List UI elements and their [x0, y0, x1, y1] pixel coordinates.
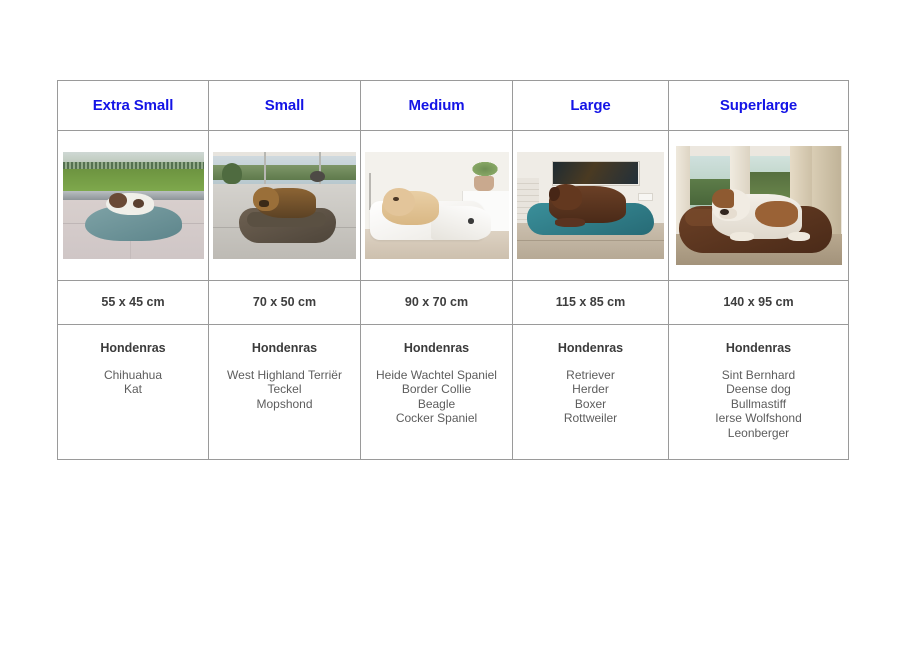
breeds-title: Hondenras [513, 342, 668, 355]
breeds-list: Sint BernhardDeense dogBullmastiffIerse … [669, 368, 848, 441]
image-cell-small [209, 131, 361, 281]
product-photo-small-dog-on-teal-cushion-bed [63, 152, 204, 259]
size-header-label: Small [209, 98, 360, 113]
product-photo-chocolate-labrador-on-teal-cushion-bed [517, 152, 664, 259]
dimension-label: 115 x 85 cm [513, 296, 668, 309]
breed-item: Teckel [209, 382, 360, 397]
breeds-cell-large: Hondenras RetrieverHerderBoxerRottweiler [513, 325, 669, 460]
photo-wrapper [209, 131, 360, 280]
breed-item: Mopshond [209, 397, 360, 412]
breed-item: Sint Bernhard [669, 368, 848, 383]
breeds-box: Hondenras West Highland TerriërTeckelMop… [209, 325, 360, 411]
breeds-cell-extra-small: Hondenras ChihuahuaKat [58, 325, 209, 460]
page-canvas: Extra Small Small Medium Large Superlarg… [0, 0, 900, 660]
product-photo-saint-bernard-on-brown-leather-bed [676, 146, 842, 265]
product-photo-cockapoo-on-white-cushion-bed [365, 152, 509, 259]
breed-item: Ierse Wolfshond [669, 411, 848, 426]
image-cell-large [513, 131, 669, 281]
breed-item: Leonberger [669, 426, 848, 441]
photo-wrapper [58, 131, 208, 280]
dimension-label: 55 x 45 cm [58, 296, 208, 309]
dog-bed-size-table: Extra Small Small Medium Large Superlarg… [57, 80, 849, 460]
breeds-box: Hondenras RetrieverHerderBoxerRottweiler [513, 325, 668, 426]
breeds-list: ChihuahuaKat [58, 368, 208, 397]
breeds-list: RetrieverHerderBoxerRottweiler [513, 368, 668, 426]
breeds-list: West Highland TerriërTeckelMopshond [209, 368, 360, 412]
breed-item: Border Collie [361, 382, 512, 397]
breed-item: Herder [513, 382, 668, 397]
photo-wrapper [361, 131, 512, 280]
breeds-box: Hondenras Sint BernhardDeense dogBullmas… [669, 325, 848, 440]
size-header-label: Superlarge [669, 98, 848, 113]
dimension-cell-small: 70 x 50 cm [209, 281, 361, 325]
size-header-label: Large [513, 98, 668, 113]
dimension-cell-large: 115 x 85 cm [513, 281, 669, 325]
product-photo-terrier-on-brown-bolster-bed [213, 152, 356, 259]
breed-item: Boxer [513, 397, 668, 412]
table-dimension-row: 55 x 45 cm 70 x 50 cm 90 x 70 cm 115 x 8… [58, 281, 849, 325]
breeds-title: Hondenras [58, 342, 208, 355]
breeds-box: Hondenras ChihuahuaKat [58, 325, 208, 397]
breed-item: Kat [58, 382, 208, 397]
dimension-label: 70 x 50 cm [209, 296, 360, 309]
breed-item: Bullmastiff [669, 397, 848, 412]
breed-item: Beagle [361, 397, 512, 412]
breeds-list: Heide Wachtel SpanielBorder CollieBeagle… [361, 368, 512, 426]
image-cell-superlarge [669, 131, 849, 281]
breed-item: Deense dog [669, 382, 848, 397]
dimension-label: 140 x 95 cm [669, 296, 848, 309]
breed-item: Rottweiler [513, 411, 668, 426]
dimension-cell-superlarge: 140 x 95 cm [669, 281, 849, 325]
breeds-title: Hondenras [209, 342, 360, 355]
dimension-cell-medium: 90 x 70 cm [361, 281, 513, 325]
breed-item: Chihuahua [58, 368, 208, 383]
image-cell-medium [361, 131, 513, 281]
breeds-box: Hondenras Heide Wachtel SpanielBorder Co… [361, 325, 512, 426]
photo-wrapper [669, 131, 848, 280]
table-image-row [58, 131, 849, 281]
breed-item: Heide Wachtel Spaniel [361, 368, 512, 383]
header-cell-extra-small: Extra Small [58, 81, 209, 131]
header-cell-small: Small [209, 81, 361, 131]
size-header-label: Medium [361, 98, 512, 113]
table-header-row: Extra Small Small Medium Large Superlarg… [58, 81, 849, 131]
breeds-cell-small: Hondenras West Highland TerriërTeckelMop… [209, 325, 361, 460]
breeds-title: Hondenras [669, 342, 848, 355]
breed-item: Cocker Spaniel [361, 411, 512, 426]
header-cell-medium: Medium [361, 81, 513, 131]
table-breeds-row: Hondenras ChihuahuaKat Hondenras West Hi… [58, 325, 849, 460]
dimension-cell-extra-small: 55 x 45 cm [58, 281, 209, 325]
photo-wrapper [513, 131, 668, 280]
breed-item: Retriever [513, 368, 668, 383]
header-cell-large: Large [513, 81, 669, 131]
breeds-cell-superlarge: Hondenras Sint BernhardDeense dogBullmas… [669, 325, 849, 460]
breed-item: West Highland Terriër [209, 368, 360, 383]
breeds-cell-medium: Hondenras Heide Wachtel SpanielBorder Co… [361, 325, 513, 460]
size-header-label: Extra Small [58, 98, 208, 113]
dimension-label: 90 x 70 cm [361, 296, 512, 309]
image-cell-extra-small [58, 131, 209, 281]
header-cell-superlarge: Superlarge [669, 81, 849, 131]
breeds-title: Hondenras [361, 342, 512, 355]
